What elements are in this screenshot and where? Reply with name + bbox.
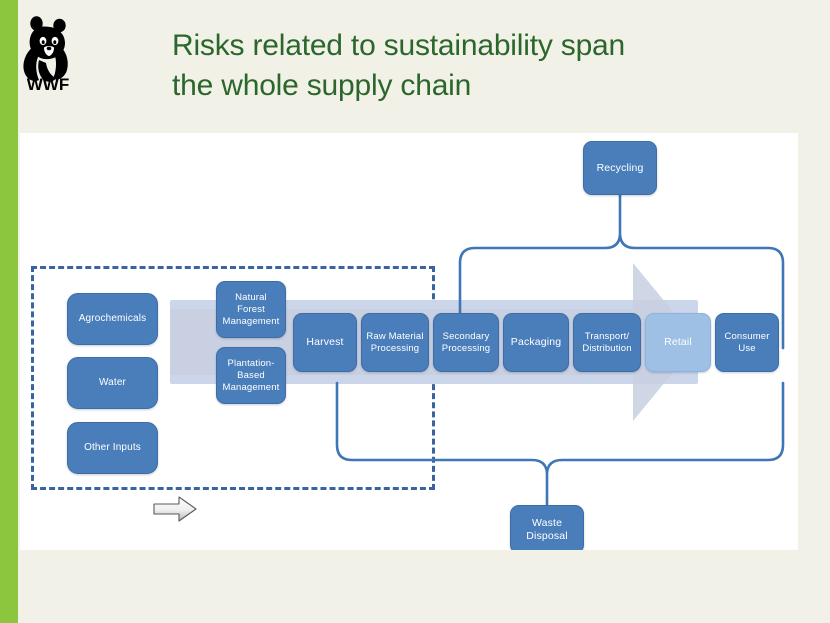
node-recycling-label: Recycling	[597, 162, 644, 175]
node-plantation-based-management-label: Plantation- Based Management	[223, 358, 280, 394]
node-packaging[interactable]: Packaging	[503, 313, 569, 372]
node-secondary-processing-label: Secondary Processing	[442, 331, 491, 355]
node-water[interactable]: Water	[67, 357, 158, 409]
node-transport-distribution[interactable]: Transport/ Distribution	[573, 313, 641, 372]
node-harvest[interactable]: Harvest	[293, 313, 357, 372]
node-consumer-use-label: Consumer Use	[724, 331, 769, 355]
node-retail[interactable]: Retail	[645, 313, 711, 372]
node-packaging-label: Packaging	[511, 336, 561, 349]
node-consumer-use[interactable]: Consumer Use	[715, 313, 779, 372]
wwf-panda-logo-icon: WWF	[17, 14, 79, 92]
node-other-inputs[interactable]: Other Inputs	[67, 422, 158, 474]
node-raw-material-processing[interactable]: Raw Material Processing	[361, 313, 429, 372]
slide-header: WWF Risks related to sustainability span…	[0, 0, 830, 133]
node-waste-disposal-label: Waste Disposal	[526, 517, 567, 543]
node-agrochemicals[interactable]: Agrochemicals	[67, 293, 158, 345]
node-other-inputs-label: Other Inputs	[84, 442, 141, 454]
node-harvest-label: Harvest	[306, 336, 343, 349]
diagram-canvas: Agrochemicals Water Other Inputs Natural…	[20, 133, 798, 550]
wwf-wordmark: WWF	[27, 75, 69, 92]
node-plantation-based-management[interactable]: Plantation- Based Management	[216, 347, 286, 404]
node-retail-label: Retail	[664, 336, 692, 349]
node-natural-forest-management-label: Natural Forest Management	[223, 292, 280, 328]
node-transport-distribution-label: Transport/ Distribution	[582, 331, 631, 355]
node-natural-forest-management[interactable]: Natural Forest Management	[216, 281, 286, 338]
node-recycling[interactable]: Recycling	[583, 141, 657, 195]
inputs-to-management-arrow-icon	[153, 495, 197, 523]
slide-root: WWF Risks related to sustainability span…	[0, 0, 830, 623]
node-secondary-processing[interactable]: Secondary Processing	[433, 313, 499, 372]
node-waste-disposal[interactable]: Waste Disposal	[510, 505, 584, 550]
node-agrochemicals-label: Agrochemicals	[79, 313, 147, 325]
page-title: Risks related to sustainability span the…	[172, 26, 772, 106]
node-water-label: Water	[99, 377, 126, 389]
node-raw-material-processing-label: Raw Material Processing	[366, 331, 423, 355]
